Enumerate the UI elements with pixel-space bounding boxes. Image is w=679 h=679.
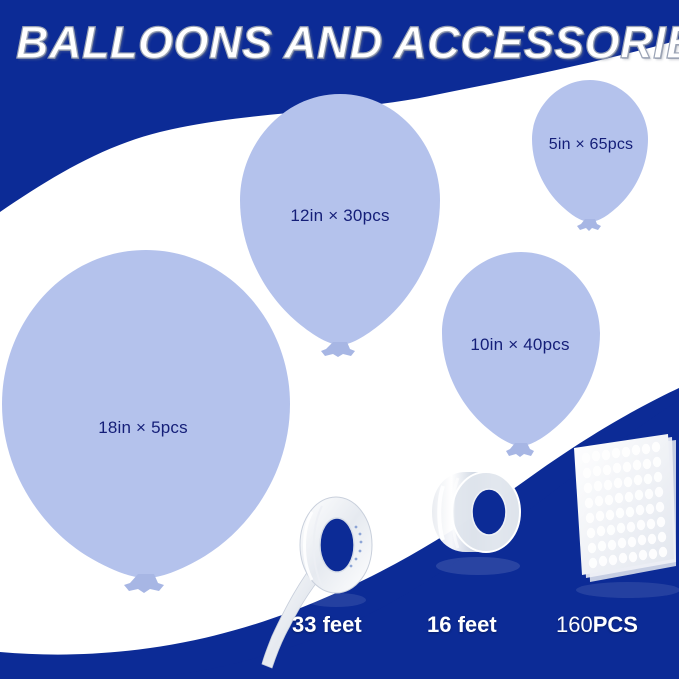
glue-dots-count-caption: 160PCS xyxy=(556,612,638,638)
glue-dots-sheet-icon xyxy=(574,434,679,598)
glue-dots-count-unit: PCS xyxy=(593,612,638,637)
balloon-label-18in: 18in × 5pcs xyxy=(0,418,286,438)
ribbon-length-caption: 33 feet xyxy=(292,612,362,638)
balloon-label-5in: 5in × 65pcs xyxy=(530,136,652,154)
balloon-label-12in: 12in × 30pcs xyxy=(240,206,440,226)
glue-dots-count-number: 160 xyxy=(556,612,593,637)
balloon-label-10in: 10in × 40pcs xyxy=(440,335,600,355)
tape-roll-icon xyxy=(432,472,520,575)
tape-length-caption: 16 feet xyxy=(427,612,497,638)
product-infographic: BALLOONS AND ACCESSORIES 18in × 5pcs 12i… xyxy=(0,0,679,679)
ribbon-roll-icon xyxy=(262,497,372,668)
